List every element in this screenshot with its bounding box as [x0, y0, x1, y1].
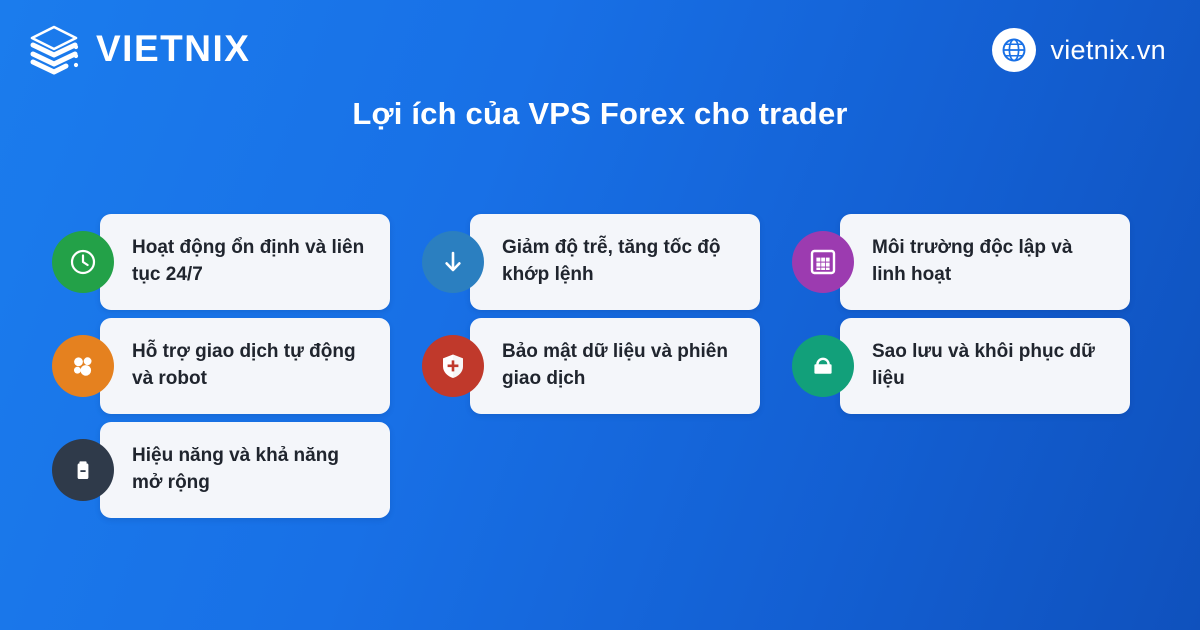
benefit-cell-empty: [792, 422, 1162, 526]
benefit-cell: Hiệu năng và khả năng mở rộng: [52, 422, 422, 526]
benefit-label: Giảm độ trễ, tăng tốc độ khớp lệnh: [502, 235, 740, 289]
benefit-item-latency: Giảm độ trễ, tăng tốc độ khớp lệnh: [422, 214, 792, 310]
benefit-label: Bảo mật dữ liệu và phiên giao dịch: [502, 339, 740, 393]
benefit-label: Hỗ trợ giao dịch tự động và robot: [132, 339, 370, 393]
benefit-item-uptime: Hoạt động ổn định và liên tục 24/7: [52, 214, 422, 310]
benefit-item-isolated-env: Môi trường độc lập và linh hoạt: [792, 214, 1162, 310]
benefit-item-automation: Hỗ trợ giao dịch tự động và robot: [52, 318, 422, 414]
clock-icon: [52, 231, 114, 293]
benefit-cell: Giảm độ trễ, tăng tốc độ khớp lệnh: [422, 214, 792, 318]
benefit-card: Bảo mật dữ liệu và phiên giao dịch: [470, 318, 760, 414]
benefit-card: Hiệu năng và khả năng mở rộng: [100, 422, 390, 518]
benefit-item-backup: Sao lưu và khôi phục dữ liệu: [792, 318, 1162, 414]
benefit-item-performance: Hiệu năng và khả năng mở rộng: [52, 422, 422, 518]
shield-icon: [422, 335, 484, 397]
benefits-grid: Hoạt động ổn định và liên tục 24/7 Giảm …: [52, 214, 1152, 526]
benefit-cell: Hỗ trợ giao dịch tự động và robot: [52, 318, 422, 422]
benefit-item-security: Bảo mật dữ liệu và phiên giao dịch: [422, 318, 792, 414]
benefit-label: Sao lưu và khôi phục dữ liệu: [872, 339, 1110, 393]
benefit-cell: Sao lưu và khôi phục dữ liệu: [792, 318, 1162, 422]
arrow-down-icon: [422, 231, 484, 293]
battery-icon: [52, 439, 114, 501]
page-title: Lợi ích của VPS Forex cho trader: [0, 96, 1200, 132]
grid-icon: [792, 231, 854, 293]
benefit-label: Môi trường độc lập và linh hoạt: [872, 235, 1110, 289]
benefit-card: Hỗ trợ giao dịch tự động và robot: [100, 318, 390, 414]
brand-lockup: VIETNIX: [26, 20, 250, 76]
benefit-card: Sao lưu và khôi phục dữ liệu: [840, 318, 1130, 414]
benefit-cell: Bảo mật dữ liệu và phiên giao dịch: [422, 318, 792, 422]
stacked-layers-logo-icon: [26, 20, 82, 76]
benefit-card: Môi trường độc lập và linh hoạt: [840, 214, 1130, 310]
brand-name: VIETNIX: [96, 30, 250, 67]
benefit-cell: Hoạt động ổn định và liên tục 24/7: [52, 214, 422, 318]
robot-cluster-icon: [52, 335, 114, 397]
benefit-label: Hoạt động ổn định và liên tục 24/7: [132, 235, 370, 289]
benefit-card: Hoạt động ổn định và liên tục 24/7: [100, 214, 390, 310]
globe-icon: [992, 28, 1036, 72]
benefit-label: Hiệu năng và khả năng mở rộng: [132, 443, 370, 497]
lock-backup-icon: [792, 335, 854, 397]
site-url-lockup: vietnix.vn: [992, 28, 1166, 72]
benefit-card: Giảm độ trễ, tăng tốc độ khớp lệnh: [470, 214, 760, 310]
benefit-cell: Môi trường độc lập và linh hoạt: [792, 214, 1162, 318]
poster-header: VIETNIX vietnix.vn: [0, 0, 1200, 92]
infographic-poster: VIETNIX vietnix.vn Lợi ích của VPS Forex…: [0, 0, 1200, 630]
benefit-cell-empty: [422, 422, 792, 526]
site-url-text: vietnix.vn: [1050, 37, 1166, 64]
